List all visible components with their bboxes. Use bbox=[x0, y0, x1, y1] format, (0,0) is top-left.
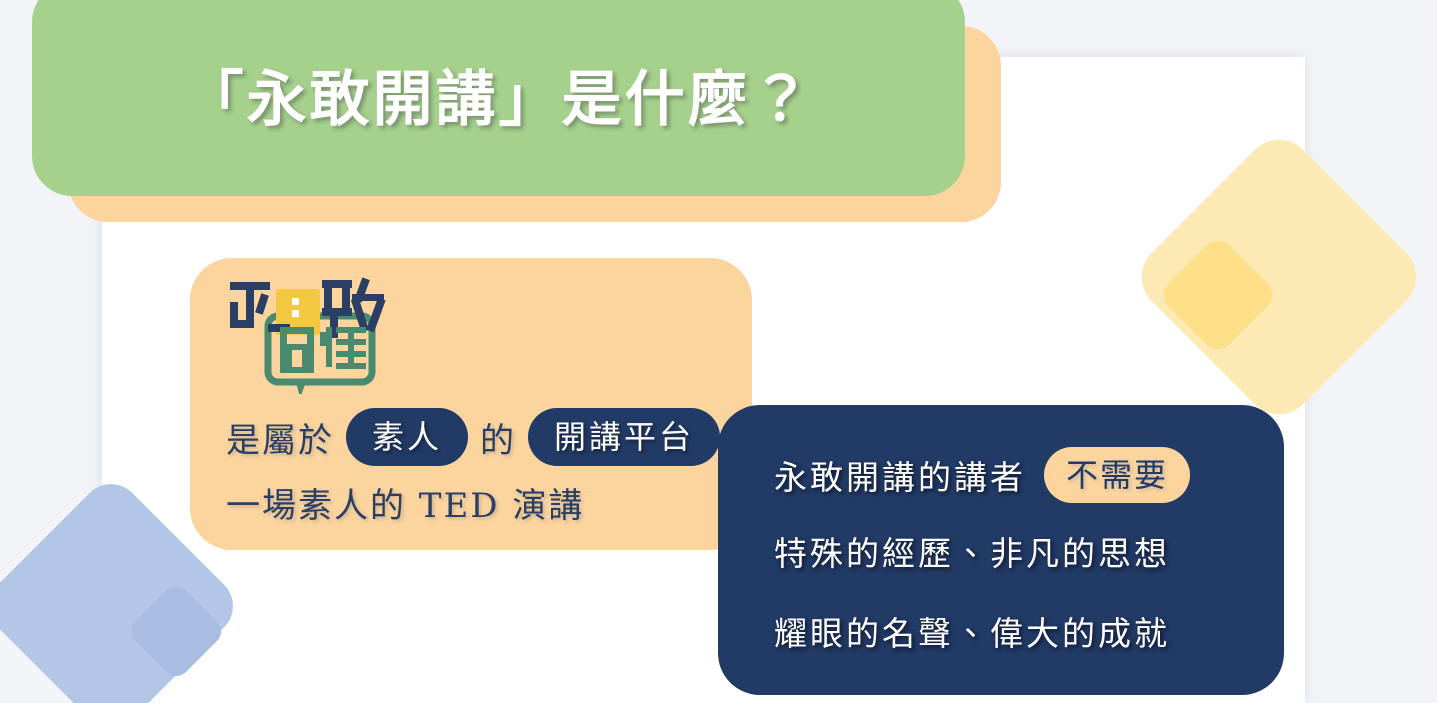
orange-card-line-2: 一場素人的 TED 演講 bbox=[226, 478, 584, 527]
navy-line1-text: 永敢開講的講者 bbox=[774, 451, 1026, 499]
orange-card-line-1: 是屬於 素人 的 開講平台 bbox=[226, 408, 732, 466]
page-title: 「永敢開講」是什麼？ bbox=[184, 48, 814, 130]
pill-kaijiang-platform: 開講平台 bbox=[528, 408, 720, 466]
slide-root: 「永敢開講」是什麼？ bbox=[0, 0, 1437, 703]
header-banner: 「永敢開講」是什麼？ bbox=[32, 0, 965, 196]
orange-info-card: 是屬於 素人 的 開講平台 一場素人的 TED 演講 bbox=[190, 258, 752, 550]
orange-line1-middle: 的 bbox=[480, 413, 516, 462]
navy-card-line-2: 特殊的經歷、非凡的思想 bbox=[774, 527, 1170, 575]
navy-info-card: 永敢開講的講者 不需要 特殊的經歷、非凡的思想 耀眼的名聲、偉大的成就 bbox=[718, 405, 1284, 695]
pill-suren: 素人 bbox=[346, 408, 468, 466]
brand-logo bbox=[224, 272, 396, 394]
orange-line1-prefix: 是屬於 bbox=[226, 413, 334, 462]
pill-buxuyao: 不需要 bbox=[1044, 447, 1190, 503]
navy-card-line-1: 永敢開講的講者 不需要 bbox=[774, 447, 1190, 503]
navy-card-line-3: 耀眼的名聲、偉大的成就 bbox=[774, 607, 1170, 655]
